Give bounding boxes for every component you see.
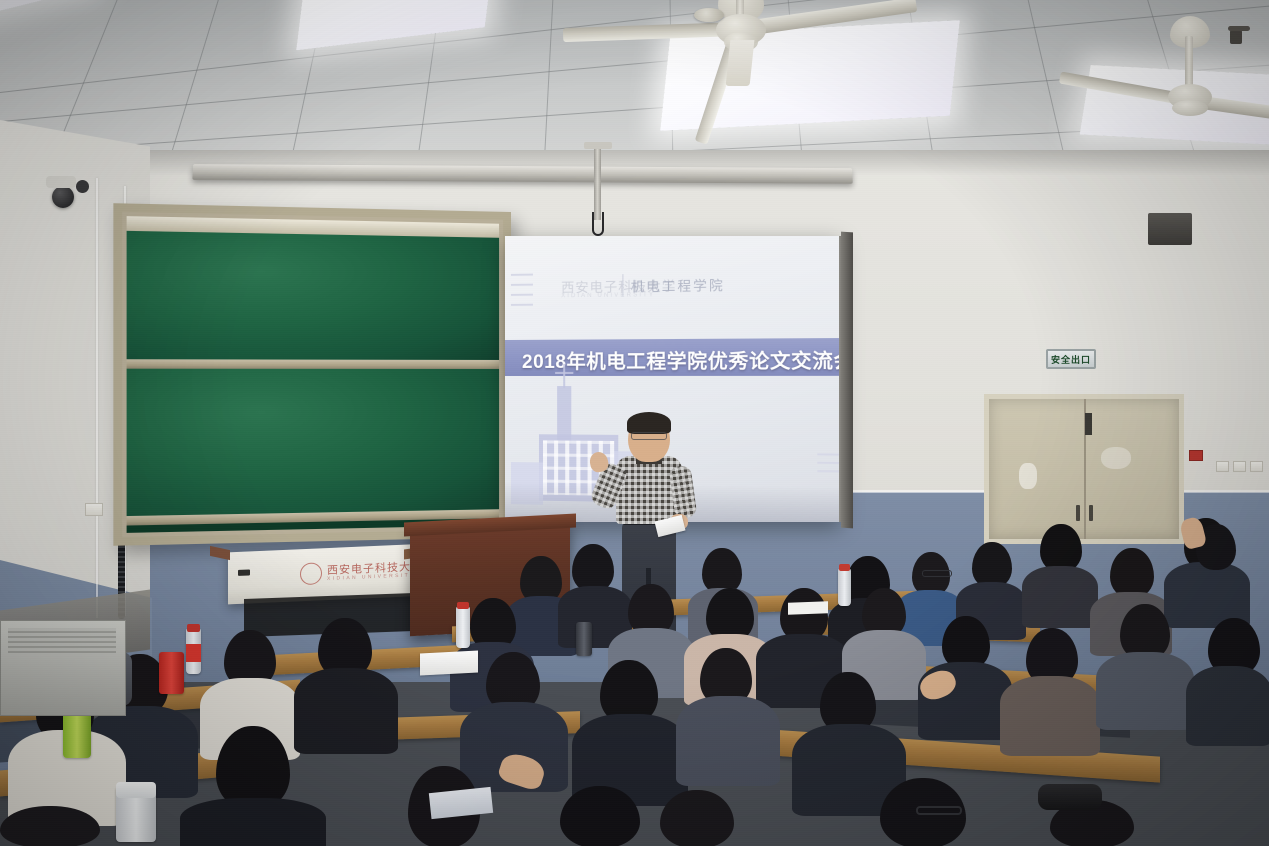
lectern-control-button[interactable] [238, 569, 250, 576]
bottle-cap-right [839, 564, 850, 571]
slide-department-label: 机电工程学院 [631, 275, 725, 296]
ceiling-fan-right [1120, 2, 1269, 112]
screen-right-frame [841, 232, 853, 529]
audience-body [1096, 652, 1194, 730]
lectern-seal [300, 562, 322, 585]
presenter-hair [627, 412, 671, 434]
audience-body-foreground [180, 798, 326, 846]
ceiling-hook [1228, 26, 1250, 31]
door-paint-scuff [1019, 463, 1037, 489]
blackboard-divider-rail [127, 359, 499, 369]
slide-logo-divider [622, 274, 623, 296]
classroom-door[interactable] [984, 394, 1184, 544]
blackboard-upper-panel [127, 231, 499, 360]
slide-building-antenna-cross [555, 372, 573, 374]
wall-panel-seam-1 [96, 178, 98, 618]
water-bottle-right [838, 568, 851, 606]
audience-head-foreground [660, 790, 734, 846]
slide-deco-tick-right-2 [817, 462, 841, 464]
slide-deco-tick-1 [511, 274, 533, 276]
audience-body [1022, 566, 1098, 628]
blackboard-lower-panel [127, 369, 499, 516]
presenter-glasses [631, 432, 667, 440]
tumbler-dark [576, 622, 592, 656]
bottle-cap-red-2 [457, 602, 469, 609]
projector-mount-pole [594, 146, 601, 220]
ceiling-light-panel-left [296, 0, 494, 50]
paper-sheet [788, 601, 828, 614]
bottle-cap-red [187, 624, 200, 632]
slide-deco-tick-4 [511, 304, 533, 306]
door-lock-plate [1085, 413, 1092, 435]
eyeglasses [916, 806, 962, 815]
light-switch-left-wall[interactable] [85, 503, 103, 516]
glasses-case [1038, 784, 1102, 810]
slide-building-antenna [563, 364, 565, 388]
slide-deco-tick-3 [511, 294, 533, 296]
audience-head [1040, 524, 1082, 572]
audience-body [1000, 676, 1100, 756]
exit-sign-text: 安全出口 [1051, 353, 1091, 366]
emergency-exit-sign: 安全出口 [1046, 349, 1096, 369]
audience-head [572, 544, 614, 592]
paper-sheet [429, 787, 493, 819]
audience-body [294, 668, 398, 754]
lecture-hall-photo: 安全出口 西安电子科技大学 X [0, 0, 1269, 846]
audience-head [1110, 548, 1154, 598]
door-paint-scuff-2 [1101, 447, 1131, 469]
projector-cable [592, 212, 604, 236]
light-switch-2[interactable] [1233, 461, 1246, 472]
audience-head-foreground [0, 806, 100, 846]
projector-mount-plate [584, 142, 612, 149]
slide-deco-tick-right-3 [817, 470, 841, 473]
light-switch-1[interactable] [1216, 461, 1229, 472]
slide-deco-tick-2 [511, 284, 533, 286]
audience-head-foreground [560, 786, 640, 846]
thermos-white-cap [116, 782, 156, 798]
ceiling-light-panel-far-left [0, 0, 100, 16]
blackboard [113, 203, 511, 546]
ceiling-fan-left [640, 0, 920, 82]
camera-mount [46, 176, 76, 188]
equipment-cabinet-vents [8, 628, 116, 654]
notebook-open [420, 650, 478, 675]
smoke-detector [694, 8, 724, 22]
thermos-red [159, 652, 184, 694]
fire-equipment-notice [1189, 450, 1203, 461]
audience-body [676, 696, 780, 786]
bottle-label [186, 644, 201, 662]
slide-deco-tick-right-1 [817, 453, 841, 455]
wall-speaker [1148, 213, 1192, 245]
sprinkler-head [1230, 30, 1242, 44]
slide-main-title: 2018年机电工程学院优秀论文交流会 [522, 345, 841, 374]
security-camera [52, 186, 74, 208]
light-switch-3[interactable] [1250, 461, 1263, 472]
audience-body [1186, 666, 1269, 746]
eyeglasses [922, 570, 952, 577]
water-bottle-clear [456, 606, 470, 648]
motion-sensor [76, 180, 89, 193]
